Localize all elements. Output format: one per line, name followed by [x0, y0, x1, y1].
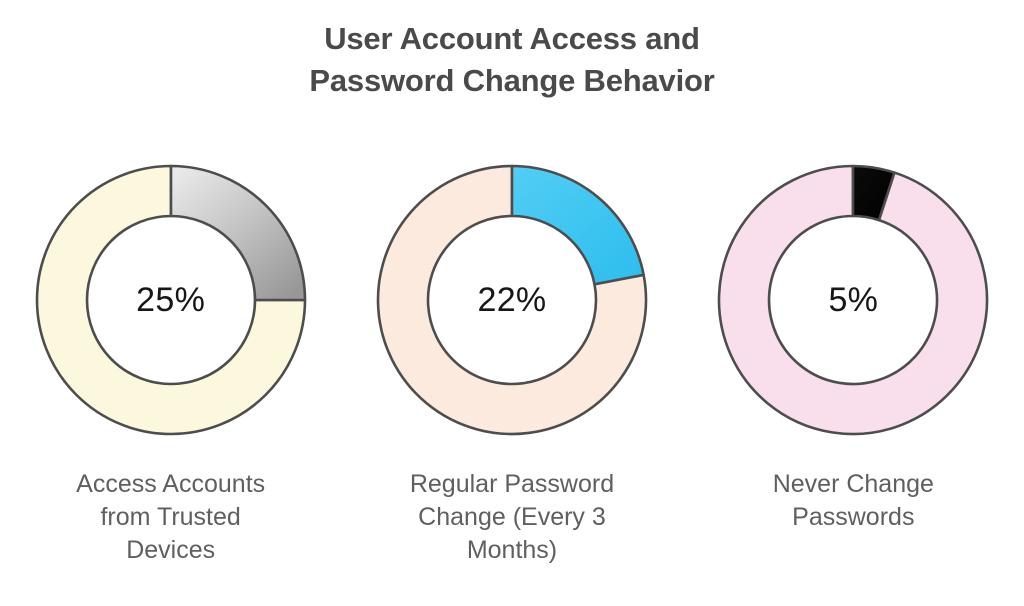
- donut-svg-3: [703, 150, 1003, 450]
- donut-value-arc-2: [512, 166, 644, 284]
- donut-chart-figure: User Account Access and Password Change …: [0, 0, 1024, 606]
- donut-caption-1: Access Accounts from Trusted Devices: [21, 468, 321, 567]
- donut-cell-never-change-passwords: 5% Never Change Passwords: [683, 150, 1024, 534]
- donut-wrap-1: 25%: [21, 150, 321, 450]
- donut-cell-access-accounts-from-trusted-devices: 25% Access Accounts from Trusted Devices: [0, 150, 341, 567]
- donut-wrap-3: 5%: [703, 150, 1003, 450]
- donut-value-arc-1: [171, 166, 305, 300]
- donut-caption-3: Never Change Passwords: [703, 468, 1003, 534]
- donut-svg-2: [362, 150, 662, 450]
- donut-row: 25% Access Accounts from Trusted Devices: [0, 150, 1024, 606]
- donut-cell-regular-password-change: 22% Regular Password Change (Every 3 Mon…: [341, 150, 682, 567]
- donut-svg-1: [21, 150, 321, 450]
- chart-title: User Account Access and Password Change …: [0, 18, 1024, 103]
- donut-caption-2: Regular Password Change (Every 3 Months): [362, 468, 662, 567]
- donut-wrap-2: 22%: [362, 150, 662, 450]
